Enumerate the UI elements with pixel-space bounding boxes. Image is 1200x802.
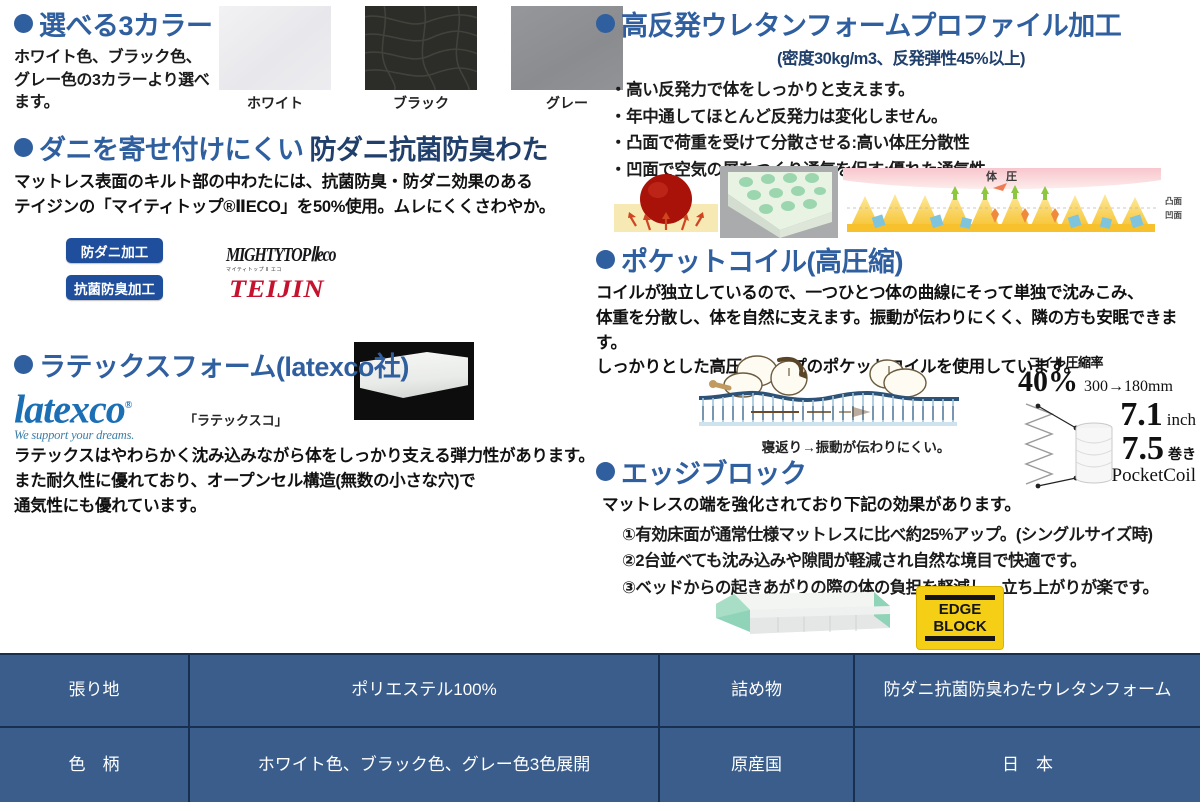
coil-inch-unit: inch bbox=[1167, 410, 1196, 430]
coil-compression-value: 40% bbox=[1018, 368, 1078, 396]
spec-value-origin: 日 本 bbox=[855, 728, 1200, 802]
section-anti-mite-title-b: 防ダニ抗菌防臭わた bbox=[309, 128, 548, 167]
section-pocket-coil-title: ポケットコイル(高圧縮) bbox=[621, 240, 903, 279]
mightytop-logo: MIGHTYTOPⅡeco マイティトップ Ⅱ エコ bbox=[226, 242, 344, 262]
section-pocket-coil-heading: ポケットコイル(高圧縮) bbox=[596, 240, 1196, 279]
circle-bullet-icon bbox=[596, 250, 615, 269]
pocket-coil-line-1: コイルが独立しているので、一つひとつ体の曲線にそって単独で沈みこみ、 bbox=[596, 281, 1196, 306]
section-color-title: 選べる3カラー bbox=[39, 4, 213, 43]
section-anti-mite: ダニを寄せ付けにくい 防ダニ抗菌防臭わた マットレス表面のキルト部の中わたには、… bbox=[14, 128, 594, 220]
swatch-chip-white bbox=[219, 6, 331, 90]
convex-label: 凸面 bbox=[1165, 196, 1183, 206]
section-urethane-foam: 高反発ウレタンフォームプロファイル加工 (密度30kg/m3、反発弾性45%以上… bbox=[596, 4, 1196, 184]
edge-block-logo: EDGE BLOCK bbox=[916, 586, 1004, 650]
circle-bullet-icon bbox=[14, 355, 33, 374]
body-pressure-diagram-icon: 体 圧 bbox=[843, 164, 1193, 238]
edge-block-logo-line2: BLOCK bbox=[933, 619, 986, 634]
teijin-logo: TEIJIN bbox=[229, 276, 324, 304]
spec-value-color: ホワイト色、ブラック色、グレー色3色展開 bbox=[190, 728, 660, 802]
edge-block-figure-group: EDGE BLOCK bbox=[704, 584, 1124, 654]
urethane-figure-strip: 体 圧 bbox=[598, 164, 1198, 240]
edge-block-benefit-2: ②2台並べても沈み込みや隙間が軽減され自然な境目で快適です。 bbox=[622, 548, 1196, 575]
circle-bullet-icon bbox=[14, 14, 33, 33]
latexco-wordmark: latexco bbox=[14, 386, 125, 431]
registered-mark-icon: ® bbox=[125, 400, 131, 411]
section-latex-body: ラテックスはやわらかく沈み込みながら体をしっかり支える弾力性があります。 また耐… bbox=[14, 444, 604, 518]
spec-label-fabric: 張り地 bbox=[0, 655, 190, 728]
edge-block-logo-line1: EDGE bbox=[939, 602, 982, 617]
swatch-label-white: ホワイト bbox=[219, 93, 331, 113]
urethane-bullet-1: ・高い反発力で体をしっかりと支えます。 bbox=[610, 77, 1196, 104]
product-feature-sheet: 選べる3カラー ホワイト色、ブラック色、グレー色の3カラーより選べます。 ホワイ… bbox=[0, 0, 1200, 800]
section-latex-foam: ラテックスフォーム(latexco社) latexco® We support … bbox=[14, 345, 604, 518]
section-anti-mite-heading: ダニを寄せ付けにくい 防ダニ抗菌防臭わた bbox=[14, 128, 594, 167]
section-urethane-heading: 高反発ウレタンフォームプロファイル加工 bbox=[596, 4, 1196, 43]
latexco-tagline: We support your dreams. bbox=[14, 428, 604, 443]
spec-label-filling: 詰め物 bbox=[660, 655, 855, 728]
badge-antibacterial-deodorant: 抗菌防臭加工 bbox=[66, 275, 163, 300]
urethane-bullet-2: ・年中通してほとんど反発力は変化しません。 bbox=[610, 104, 1196, 131]
concave-label: 凹面 bbox=[1165, 210, 1183, 220]
circle-bullet-icon bbox=[596, 462, 615, 481]
edge-block-benefit-1: ①有効床面が通常仕様マットレスに比べ約25%アップ。(シングルサイズ時) bbox=[622, 522, 1196, 549]
pocket-coil-line-2: 体重を分散し、体を自然に支えます。振動が伝わりにくく、隣の方も安眠できます。 bbox=[596, 306, 1196, 356]
anti-mite-line-1: マットレス表面のキルト部の中わたには、抗菌防臭・防ダニ効果のある bbox=[14, 170, 594, 195]
circle-bullet-icon bbox=[596, 14, 615, 33]
mightytop-logo-text: MIGHTYTOPⅡeco bbox=[226, 242, 344, 267]
section-color-choices: 選べる3カラー ホワイト色、ブラック色、グレー色の3カラーより選べます。 ホワイ… bbox=[14, 4, 594, 114]
color-swatch-list: ホワイト bbox=[219, 6, 623, 113]
logo-bar-top bbox=[925, 595, 995, 600]
section-urethane-subtitle: (密度30kg/m3、反発弾性45%以上) bbox=[606, 45, 1196, 69]
coil-vibration-illustration: 寝返り→振動が伝わりにくい。 bbox=[691, 352, 1021, 458]
swatch-label-black: ブラック bbox=[365, 93, 477, 113]
color-swatch-black: ブラック bbox=[365, 6, 477, 113]
coil-turns-unit: 巻き bbox=[1168, 444, 1196, 464]
section-urethane-title: 高反発ウレタンフォームプロファイル加工 bbox=[621, 4, 1121, 43]
color-swatch-white: ホワイト bbox=[219, 6, 331, 113]
section-latex-heading: ラテックスフォーム(latexco社) bbox=[14, 345, 604, 384]
urethane-bullet-3: ・凸面で荷重を受けて分散させる:高い体圧分散性 bbox=[610, 130, 1196, 157]
latex-line-1: ラテックスはやわらかく沈み込みながら体をしっかり支える弾力性があります。 bbox=[14, 444, 604, 469]
spec-value-filling: 防ダニ抗菌防臭わたウレタンフォーム bbox=[855, 655, 1200, 728]
spec-value-fabric: ポリエステル100% bbox=[190, 655, 660, 728]
circle-bullet-icon bbox=[14, 138, 33, 157]
profile-foam-photo bbox=[720, 166, 838, 238]
section-anti-mite-title-a: ダニを寄せ付けにくい bbox=[39, 128, 303, 167]
section-color-lead: ホワイト色、ブラック色、グレー色の3カラーより選べます。 bbox=[14, 47, 214, 115]
mattress-3d-illustration-icon bbox=[704, 584, 900, 650]
edge-block-lead: マットレスの端を強化されており下記の効果があります。 bbox=[602, 493, 1196, 518]
latexco-logo-text: latexco® bbox=[14, 388, 604, 427]
specification-table: 張り地 ポリエステル100% 詰め物 防ダニ抗菌防臭わたウレタンフォーム 色 柄… bbox=[0, 653, 1200, 802]
section-anti-mite-body: マットレス表面のキルト部の中わたには、抗菌防臭・防ダニ効果のある テイジンの「マ… bbox=[14, 170, 594, 220]
latexco-kana: 「ラテックスコ」 bbox=[184, 410, 288, 429]
svg-text:体 圧: 体 圧 bbox=[986, 169, 1020, 183]
spec-label-origin: 原産国 bbox=[660, 728, 855, 802]
section-latex-title: ラテックスフォーム(latexco社) bbox=[39, 345, 409, 384]
section-edge-block-title: エッジブロック bbox=[621, 452, 807, 491]
mightytop-logo-subtext: マイティトップ Ⅱ エコ bbox=[226, 266, 344, 273]
coil-compression-row: 40% 300→180mm bbox=[1018, 368, 1196, 396]
anti-mite-line-2: テイジンの「マイティトップ®ⅡECO」を50%使用。ムレにくくさわやか。 bbox=[14, 195, 594, 220]
badge-anti-mite: 防ダニ加工 bbox=[66, 238, 163, 263]
sleeping-couple-coil-icon bbox=[691, 352, 1021, 436]
coil-spec-panel: コイル圧縮率 40% 300→180mm 7.1 inch bbox=[1018, 352, 1196, 492]
logo-bar-bottom bbox=[925, 636, 995, 641]
latex-line-2: また耐久性に優れており、オープンセル構造(無数の小さな穴)で bbox=[14, 469, 604, 494]
anti-mite-badge-group: 防ダニ加工 抗菌防臭加工 MIGHTYTOPⅡeco マイティトップ Ⅱ エコ … bbox=[66, 238, 163, 312]
latexco-logo: latexco® We support your dreams. 「ラテックスコ… bbox=[14, 388, 604, 440]
pocket-coil-spring-illustration-icon bbox=[1018, 394, 1128, 492]
profile-foam-shape-icon bbox=[720, 166, 838, 238]
spec-label-color: 色 柄 bbox=[0, 728, 190, 802]
fabric-wave-texture-icon bbox=[365, 6, 477, 90]
pressure-ball-illustration-icon bbox=[606, 168, 726, 236]
latex-line-3: 通気性にも優れています。 bbox=[14, 494, 604, 519]
swatch-chip-black bbox=[365, 6, 477, 90]
